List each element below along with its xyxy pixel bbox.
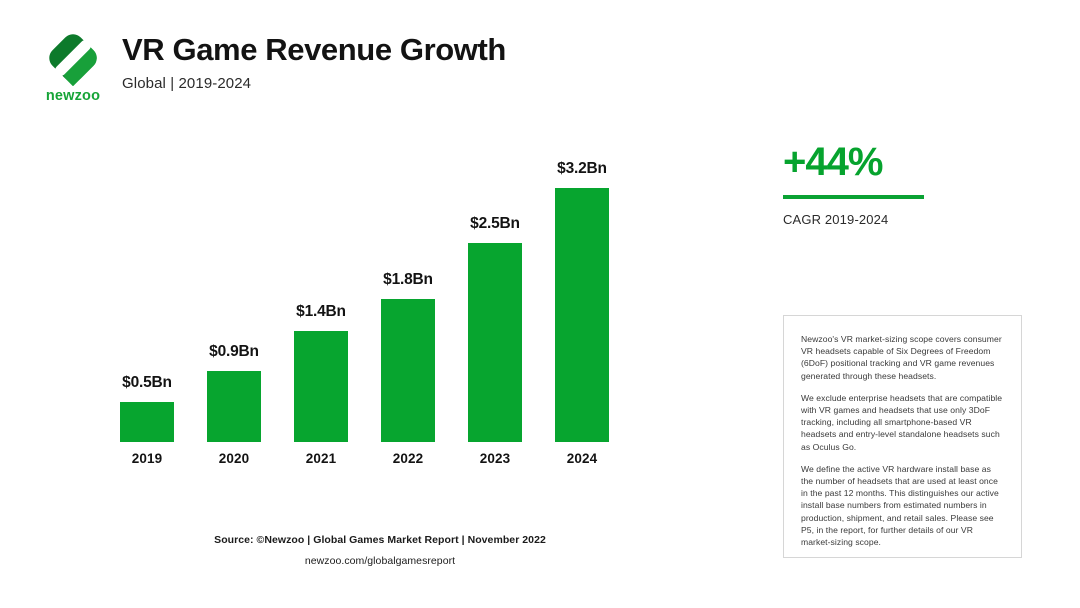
x-axis-label-2019: 2019 xyxy=(98,451,196,466)
note-paragraph-3: We define the active VR hardware install… xyxy=(801,463,1004,548)
bar-2023[interactable] xyxy=(468,243,522,442)
x-axis-label-2020: 2020 xyxy=(185,451,283,466)
page-subtitle: Global | 2019-2024 xyxy=(122,75,506,92)
infographic-page: newzoo VR Game Revenue Growth Global | 2… xyxy=(0,0,1080,608)
bar-group-2024: $3.2Bn2024 xyxy=(555,160,609,442)
cagr-value: +44% xyxy=(783,142,924,182)
chart-footer: Source: ©Newzoo | Global Games Market Re… xyxy=(100,534,660,568)
bar-group-2023: $2.5Bn2023 xyxy=(468,160,522,442)
x-axis-label-2022: 2022 xyxy=(359,451,457,466)
note-paragraph-1: Newzoo's VR market-sizing scope covers c… xyxy=(801,333,1004,382)
bar-2021[interactable] xyxy=(294,331,348,442)
x-axis-label-2024: 2024 xyxy=(533,451,631,466)
chart-plot-area: $0.5Bn2019$0.9Bn2020$1.4Bn2021$1.8Bn2022… xyxy=(100,160,660,442)
header: newzoo VR Game Revenue Growth Global | 2… xyxy=(36,30,506,104)
bar-value-label: $0.5Bn xyxy=(98,374,196,392)
brand-logo: newzoo xyxy=(36,30,110,104)
bar-group-2022: $1.8Bn2022 xyxy=(381,160,435,442)
methodology-notes-box: Newzoo's VR market-sizing scope covers c… xyxy=(783,315,1022,558)
source-url[interactable]: newzoo.com/globalgamesreport xyxy=(100,555,660,569)
bar-value-label: $1.8Bn xyxy=(359,271,457,289)
note-paragraph-2: We exclude enterprise headsets that are … xyxy=(801,392,1004,453)
bar-group-2019: $0.5Bn2019 xyxy=(120,160,174,442)
title-block: VR Game Revenue Growth Global | 2019-202… xyxy=(122,30,506,92)
newzoo-diamond-logo-icon xyxy=(45,30,101,86)
bar-value-label: $2.5Bn xyxy=(446,215,544,233)
bar-group-2021: $1.4Bn2021 xyxy=(294,160,348,442)
x-axis-label-2023: 2023 xyxy=(446,451,544,466)
bar-2020[interactable] xyxy=(207,371,261,442)
bar-group-2020: $0.9Bn2020 xyxy=(207,160,261,442)
cagr-kpi: +44% CAGR 2019-2024 xyxy=(783,142,924,227)
kpi-underline-rule xyxy=(783,195,924,199)
page-title: VR Game Revenue Growth xyxy=(122,33,506,68)
source-credit: Source: ©Newzoo | Global Games Market Re… xyxy=(100,534,660,548)
cagr-caption: CAGR 2019-2024 xyxy=(783,212,924,227)
brand-wordmark: newzoo xyxy=(46,89,100,104)
x-axis-label-2021: 2021 xyxy=(272,451,370,466)
bar-value-label: $3.2Bn xyxy=(533,160,631,178)
bar-value-label: $0.9Bn xyxy=(185,343,283,361)
bar-2022[interactable] xyxy=(381,299,435,442)
bar-2019[interactable] xyxy=(120,402,174,442)
bar-chart: $0.5Bn2019$0.9Bn2020$1.4Bn2021$1.8Bn2022… xyxy=(100,160,660,480)
bar-value-label: $1.4Bn xyxy=(272,303,370,321)
bar-2024[interactable] xyxy=(555,188,609,442)
